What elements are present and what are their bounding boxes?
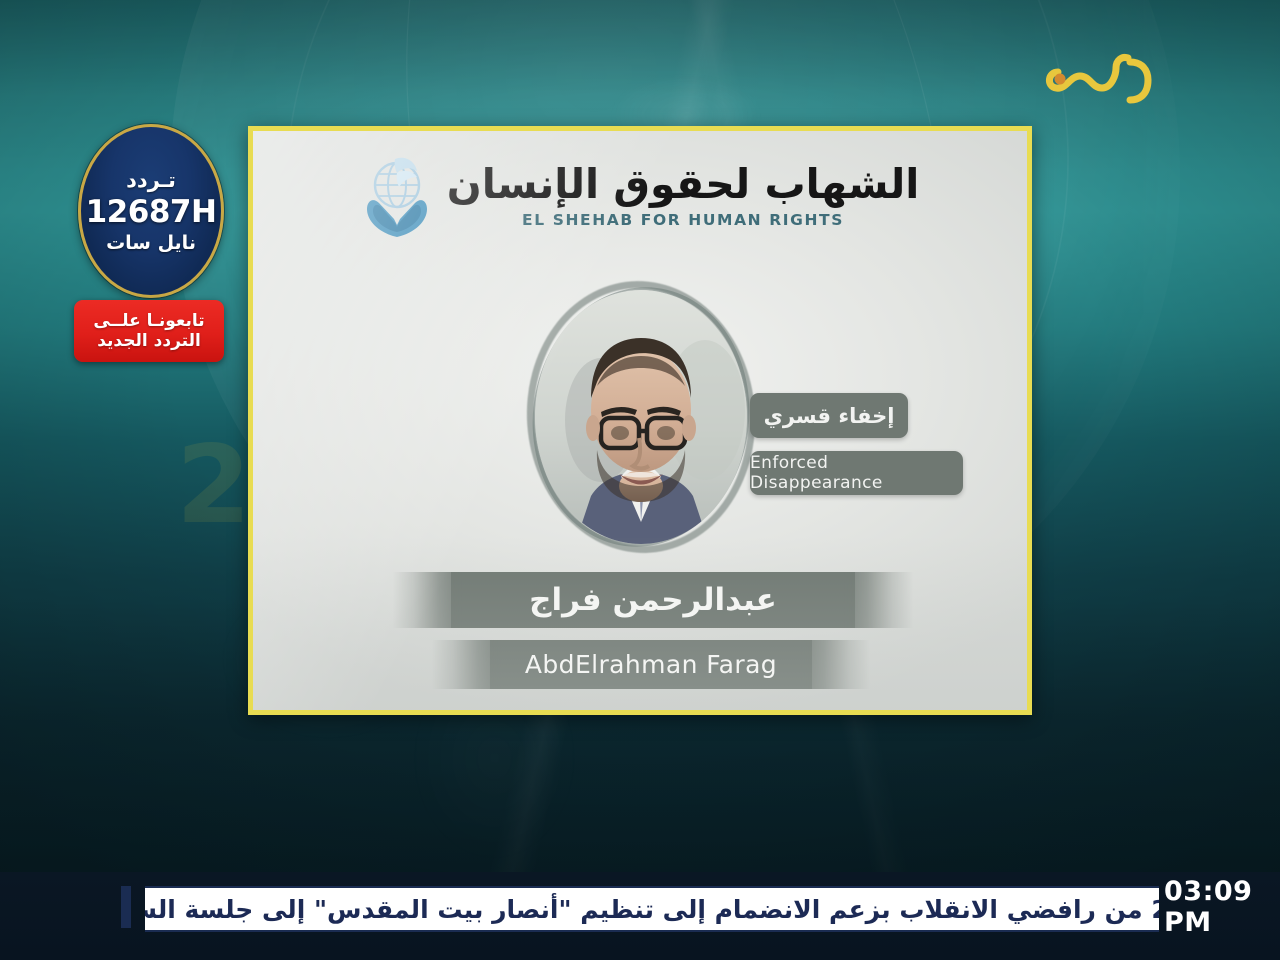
organization-name-english: EL SHEHAB FOR HUMAN RIGHTS <box>522 211 844 229</box>
person-name-arabic: عبدالرحمن فراج <box>529 582 777 618</box>
organization-name-arabic: الشهاب لحقوق الإنسان <box>447 161 920 208</box>
portrait-image <box>535 290 747 544</box>
follow-banner-line-2: التردد الجديد <box>97 331 201 351</box>
person-name-english: AbdElrahman Farag <box>525 650 777 679</box>
follow-banner-line-1: تابعونـا علــى <box>93 311 204 331</box>
category-tag-english: Enforced Disappearance <box>750 451 963 495</box>
person-name-banner-arabic: عبدالرحمن فراج <box>451 572 855 628</box>
watan-channel-logo <box>1038 46 1168 108</box>
frequency-badge: تـردد 12687H نايل سات <box>78 124 224 298</box>
ticker-clock: 03:09 PM <box>1164 886 1274 928</box>
report-card: الشهاب لحقوق الإنسان EL SHEHAB FOR HUMAN… <box>248 126 1032 715</box>
news-ticker-bar: ة 213 من رافضي الانقلاب بزعم الانضمام إل… <box>0 872 1280 960</box>
organization-names: الشهاب لحقوق الإنسان EL SHEHAB FOR HUMAN… <box>447 161 920 228</box>
news-ticker-text: ة 213 من رافضي الانقلاب بزعم الانضمام إل… <box>145 895 1159 924</box>
ticker-headline: ة 213 من رافضي الانقلاب بزعم الانضمام إل… <box>145 895 1159 924</box>
organization-header: الشهاب لحقوق الإنسان EL SHEHAB FOR HUMAN… <box>253 145 1027 245</box>
satellite-name: نايل سات <box>106 232 196 254</box>
tv-broadcast-screen: 20 تـردد 12687H نايل سات تابعونـا علــى … <box>0 0 1280 960</box>
ticker-left-cap <box>121 886 131 928</box>
frequency-value: 12687H <box>86 194 217 230</box>
category-tag-arabic: إخفاء قسري <box>750 393 908 438</box>
frequency-label: تـردد <box>126 168 176 192</box>
person-name-banner-english: AbdElrahman Farag <box>490 640 812 689</box>
news-ticker-strip[interactable]: ة 213 من رافضي الانقلاب بزعم الانضمام إل… <box>145 886 1159 932</box>
hands-dove-globe-logo <box>361 145 433 245</box>
follow-us-banner: تابعونـا علــى التردد الجديد <box>74 300 224 362</box>
detainee-portrait <box>535 290 747 544</box>
